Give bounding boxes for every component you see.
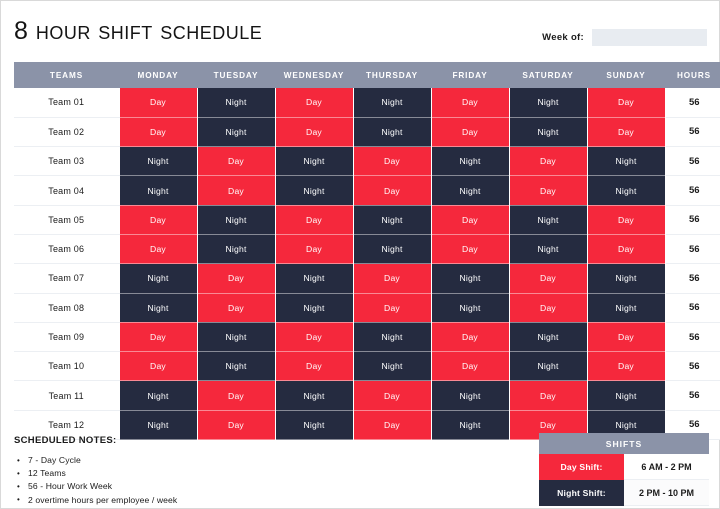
column-header-friday: FRIDAY (431, 62, 509, 88)
legend-row: Night Shift:2 PM - 10 PM (539, 480, 709, 506)
shift-cell[interactable]: Day (431, 117, 509, 146)
column-header-thursday: THURSDAY (353, 62, 431, 88)
legend-night-time: 2 PM - 10 PM (624, 480, 709, 506)
table-row: Team 01DayNightDayNightDayNightDay56 (14, 88, 720, 117)
shift-cell[interactable]: Night (353, 352, 431, 381)
shift-cell[interactable]: Night (197, 322, 275, 351)
shift-cell[interactable]: Day (119, 322, 197, 351)
table-row: Team 09DayNightDayNightDayNightDay56 (14, 322, 720, 351)
note-item: 12 Teams (14, 467, 344, 480)
shift-cell[interactable]: Day (353, 381, 431, 410)
hours-cell: 56 (665, 176, 720, 205)
hours-cell: 56 (665, 352, 720, 381)
shift-cell[interactable]: Night (353, 234, 431, 263)
shift-cell[interactable]: Day (509, 176, 587, 205)
shift-cell[interactable]: Day (353, 410, 431, 439)
column-header-sunday: SUNDAY (587, 62, 665, 88)
shift-cell[interactable]: Day (587, 205, 665, 234)
shift-cell[interactable]: Night (431, 410, 509, 439)
legend-night-label: Night Shift: (539, 480, 624, 506)
shift-cell[interactable]: Day (275, 322, 353, 351)
shift-cell[interactable]: Night (353, 117, 431, 146)
shift-cell[interactable]: Night (431, 381, 509, 410)
shift-cell[interactable]: Night (275, 293, 353, 322)
shift-cell[interactable]: Night (197, 352, 275, 381)
note-item: 7 - Day Cycle (14, 454, 344, 467)
shift-cell[interactable]: Night (509, 88, 587, 117)
legend-row: Day Shift:6 AM - 2 PM (539, 454, 709, 480)
note-item: 2 overtime hours per employee / week (14, 494, 344, 507)
page-title: 8 Hour Shift Schedule (14, 17, 262, 46)
team-name-cell: Team 02 (14, 117, 119, 146)
shift-cell[interactable]: Day (275, 352, 353, 381)
shift-cell[interactable]: Night (197, 117, 275, 146)
shift-cell[interactable]: Night (275, 264, 353, 293)
note-item: 56 - Hour Work Week (14, 480, 344, 493)
hours-cell: 56 (665, 147, 720, 176)
shift-cell[interactable]: Night (509, 205, 587, 234)
team-name-cell: Team 04 (14, 176, 119, 205)
notes-title: SCHEDULED NOTES: (14, 435, 344, 446)
shift-cell[interactable]: Day (431, 352, 509, 381)
shift-cell[interactable]: Night (353, 322, 431, 351)
shift-cell[interactable]: Night (119, 176, 197, 205)
shift-cell[interactable]: Day (431, 88, 509, 117)
column-header-monday: MONDAY (119, 62, 197, 88)
shift-cell[interactable]: Night (587, 293, 665, 322)
shift-cell[interactable]: Night (587, 176, 665, 205)
team-name-cell: Team 11 (14, 381, 119, 410)
shift-cell[interactable]: Day (275, 234, 353, 263)
shift-cell[interactable]: Day (275, 88, 353, 117)
hours-cell: 56 (665, 293, 720, 322)
hours-cell: 56 (665, 381, 720, 410)
table-row: Team 08NightDayNightDayNightDayNight56 (14, 293, 720, 322)
shift-cell[interactable]: Day (431, 205, 509, 234)
shift-cell[interactable]: Night (587, 381, 665, 410)
shift-cell[interactable]: Day (509, 147, 587, 176)
shift-cell[interactable]: Night (431, 264, 509, 293)
legend-heading: SHIFTS (539, 433, 709, 454)
shift-cell[interactable]: Day (353, 147, 431, 176)
week-of-label: Week of: (542, 32, 584, 43)
shift-cell[interactable]: Day (197, 381, 275, 410)
shift-cell[interactable]: Night (587, 147, 665, 176)
shift-cell[interactable]: Night (197, 88, 275, 117)
notes-list: 7 - Day Cycle12 Teams56 - Hour Work Week… (14, 454, 344, 507)
shift-cell[interactable]: Night (353, 205, 431, 234)
table-row: Team 07NightDayNightDayNightDayNight56 (14, 264, 720, 293)
shift-cell[interactable]: Night (119, 293, 197, 322)
hours-cell: 56 (665, 322, 720, 351)
table-row: Team 05DayNightDayNightDayNightDay56 (14, 205, 720, 234)
shift-cell[interactable]: Night (119, 147, 197, 176)
legend-body: Day Shift:6 AM - 2 PMNight Shift:2 PM - … (539, 454, 709, 506)
week-of-input[interactable] (592, 29, 707, 46)
shift-cell[interactable]: Night (431, 293, 509, 322)
shift-cell[interactable]: Day (275, 205, 353, 234)
shift-cell[interactable]: Night (431, 147, 509, 176)
column-header-teams: TEAMS (14, 62, 119, 88)
shift-cell[interactable]: Day (431, 234, 509, 263)
shift-cell[interactable]: Day (587, 234, 665, 263)
shift-cell[interactable]: Day (509, 293, 587, 322)
shift-cell[interactable]: Day (119, 234, 197, 263)
shift-cell[interactable]: Day (197, 176, 275, 205)
shift-cell[interactable]: Day (509, 381, 587, 410)
table-row: Team 06DayNightDayNightDayNightDay56 (14, 234, 720, 263)
shift-cell[interactable]: Night (509, 352, 587, 381)
shift-cell[interactable]: Day (119, 88, 197, 117)
shift-cell[interactable]: Day (509, 264, 587, 293)
shift-cell[interactable]: Day (353, 176, 431, 205)
table-header-row: TEAMS MONDAY TUESDAY WEDNESDAY THURSDAY … (14, 62, 720, 88)
team-name-cell: Team 06 (14, 234, 119, 263)
shift-cell[interactable]: Night (431, 176, 509, 205)
scheduled-notes: SCHEDULED NOTES: 7 - Day Cycle12 Teams56… (14, 435, 344, 507)
hours-cell: 56 (665, 117, 720, 146)
team-name-cell: Team 01 (14, 88, 119, 117)
hours-cell: 56 (665, 205, 720, 234)
shift-cell[interactable]: Day (197, 264, 275, 293)
week-of-field: Week of: (542, 29, 707, 46)
shift-cell[interactable]: Night (509, 117, 587, 146)
shift-cell[interactable]: Night (509, 322, 587, 351)
shift-cell[interactable]: Day (587, 117, 665, 146)
column-header-tuesday: TUESDAY (197, 62, 275, 88)
column-header-wednesday: WEDNESDAY (275, 62, 353, 88)
legend-day-time: 6 AM - 2 PM (624, 454, 709, 480)
team-name-cell: Team 07 (14, 264, 119, 293)
shift-cell[interactable]: Night (119, 264, 197, 293)
shift-cell[interactable]: Day (119, 205, 197, 234)
team-name-cell: Team 09 (14, 322, 119, 351)
page-header: 8 Hour Shift Schedule Week of: (1, 1, 719, 59)
shift-cell[interactable]: Day (119, 117, 197, 146)
legend-day-label: Day Shift: (539, 454, 624, 480)
team-name-cell: Team 03 (14, 147, 119, 176)
shift-cell[interactable]: Day (587, 352, 665, 381)
shift-cell[interactable]: Day (275, 117, 353, 146)
shift-cell[interactable]: Night (119, 381, 197, 410)
hours-cell: 56 (665, 264, 720, 293)
column-header-saturday: SATURDAY (509, 62, 587, 88)
shift-cell[interactable]: Day (197, 293, 275, 322)
table-row: Team 03NightDayNightDayNightDayNight56 (14, 147, 720, 176)
table-row: Team 10DayNightDayNightDayNightDay56 (14, 352, 720, 381)
shift-cell[interactable]: Night (353, 88, 431, 117)
shift-cell[interactable]: Day (119, 352, 197, 381)
shift-cell[interactable]: Day (353, 264, 431, 293)
team-name-cell: Team 08 (14, 293, 119, 322)
team-name-cell: Team 10 (14, 352, 119, 381)
shift-cell[interactable]: Day (431, 322, 509, 351)
column-header-hours: HOURS (665, 62, 720, 88)
shift-cell[interactable]: Day (587, 88, 665, 117)
shift-cell[interactable]: Night (275, 147, 353, 176)
hours-cell: 56 (665, 234, 720, 263)
shifts-legend: SHIFTS Day Shift:6 AM - 2 PMNight Shift:… (539, 433, 709, 506)
shift-schedule-table: TEAMS MONDAY TUESDAY WEDNESDAY THURSDAY … (14, 62, 720, 440)
table-row: Team 11NightDayNightDayNightDayNight56 (14, 381, 720, 410)
shift-cell[interactable]: Day (587, 322, 665, 351)
shift-cell[interactable]: Night (275, 176, 353, 205)
table-row: Team 04NightDayNightDayNightDayNight56 (14, 176, 720, 205)
shift-cell[interactable]: Night (509, 234, 587, 263)
shift-cell[interactable]: Night (275, 381, 353, 410)
shift-cell[interactable]: Night (197, 205, 275, 234)
shift-cell[interactable]: Night (587, 264, 665, 293)
hours-cell: 56 (665, 88, 720, 117)
shift-cell[interactable]: Day (197, 147, 275, 176)
table-body: Team 01DayNightDayNightDayNightDay56Team… (14, 88, 720, 440)
team-name-cell: Team 05 (14, 205, 119, 234)
shift-cell[interactable]: Day (353, 293, 431, 322)
table-row: Team 02DayNightDayNightDayNightDay56 (14, 117, 720, 146)
shift-cell[interactable]: Night (197, 234, 275, 263)
